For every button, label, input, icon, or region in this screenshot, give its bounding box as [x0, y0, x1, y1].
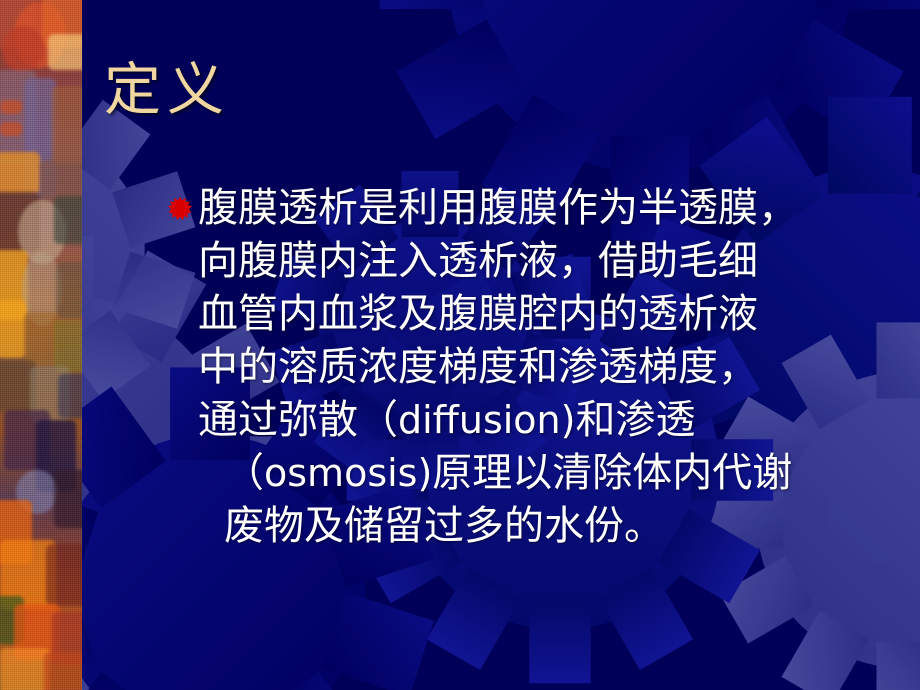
- slide-body-text: 腹膜透析是利用腹膜作为半透膜， 向腹膜内注入透析液，借助毛细 血管内血浆及腹膜腔…: [162, 182, 882, 553]
- slide-body-block: 腹膜透析是利用腹膜作为半透膜， 向腹膜内注入透析液，借助毛细 血管内血浆及腹膜腔…: [162, 182, 882, 553]
- body-line-post: 原理以清除体内代谢: [432, 450, 792, 496]
- body-line: 通过弥散（diffusion)和渗透: [198, 394, 882, 447]
- body-line: 废物及储留过多的水份。: [198, 500, 882, 553]
- body-line: 向腹膜内注入透析液，借助毛细: [198, 235, 882, 288]
- warm-gear-texture-strip: [0, 0, 82, 690]
- presentation-slide: 定义 腹膜透析是利用腹膜作为半透膜， 向腹膜内注入透析液，借助毛细 血管内血浆及…: [0, 0, 920, 690]
- body-line: 腹膜透析是利用腹膜作为半透膜，: [198, 182, 882, 235]
- slide-title: 定义: [104, 62, 230, 119]
- body-line: 中的溶质浓度梯度和渗透梯度，: [198, 341, 882, 394]
- body-line-latin-term: osmosis): [264, 451, 432, 495]
- body-line: （osmosis)原理以清除体内代谢: [198, 447, 882, 500]
- red-starburst-bullet-icon: [168, 196, 192, 220]
- body-line-latin-term: diffusion): [398, 398, 575, 442]
- body-line: 血管内血浆及腹膜腔内的透析液: [198, 288, 882, 341]
- body-line-pre: 通过弥散（: [198, 397, 398, 443]
- body-line-pre: （: [224, 450, 264, 496]
- texture-noise-overlay: [0, 0, 82, 690]
- body-line-post: 和渗透: [575, 397, 695, 443]
